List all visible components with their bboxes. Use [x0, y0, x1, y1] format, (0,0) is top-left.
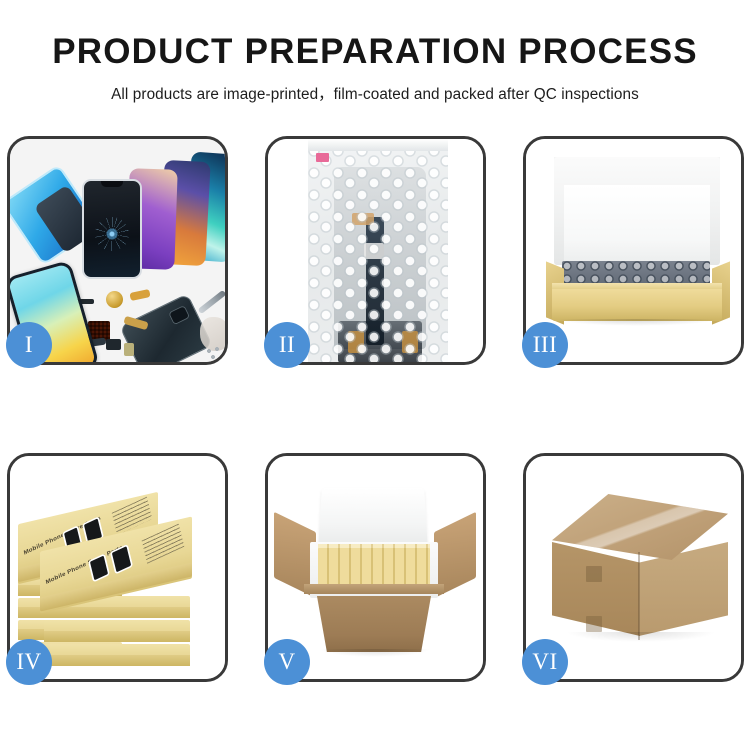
speaker-coil-icon: [106, 291, 123, 308]
loudspeaker-icon: [106, 339, 121, 350]
step-card-4[interactable]: Mobile Phone Spare Parts Mobile Phone Sp…: [7, 453, 228, 682]
drop-shadow: [566, 632, 716, 642]
foam-lid-icon: [318, 488, 428, 550]
phone-notch-icon: [101, 181, 123, 187]
step-badge-3: III: [522, 322, 568, 368]
screen-crack-graphic: [95, 217, 129, 251]
retail-box-icon: [44, 620, 190, 642]
black-glass-screen-icon: [82, 179, 142, 279]
flex-cable-icon: [129, 289, 150, 301]
box-spec-lines: [142, 524, 185, 564]
hand-icon: [200, 317, 225, 351]
pink-label-icon: [316, 153, 329, 162]
step-badge-6: VI: [522, 639, 568, 685]
screwdriver-icon: [198, 290, 225, 314]
step-card-6[interactable]: VI: [523, 453, 744, 682]
bubble-bag-icon: [308, 145, 448, 362]
page-subtitle: All products are image-printed，film-coat…: [0, 82, 750, 104]
carton-body-icon: [312, 596, 436, 652]
phone-print-icon: [90, 556, 108, 581]
carton-handle-cutout-icon: [586, 566, 602, 582]
bubble-texture: [308, 145, 448, 362]
page-title: PRODUCT PREPARATION PROCESS: [0, 34, 750, 69]
retail-box-icon: [44, 644, 190, 666]
foam-sheet-icon: [564, 185, 710, 263]
screws-icon: [206, 347, 224, 359]
drop-shadow: [320, 649, 430, 657]
step-card-5[interactable]: V: [265, 453, 486, 682]
page-header: PRODUCT PREPARATION PROCESS All products…: [0, 0, 750, 104]
carton-edge-seam: [638, 552, 640, 640]
step-badge-2: II: [264, 322, 310, 368]
power-button-icon: [124, 343, 134, 356]
drop-shadow: [556, 319, 718, 326]
step-card-2[interactable]: II: [265, 136, 486, 365]
bag-seal-icon: [308, 139, 448, 151]
step-card-1[interactable]: I: [7, 136, 228, 365]
process-steps-grid: I II: [7, 136, 743, 682]
step-badge-1: I: [6, 322, 52, 368]
step-card-3[interactable]: III: [523, 136, 744, 365]
kraft-tray-icon: [552, 289, 722, 321]
carton-rim-icon: [304, 584, 444, 594]
step-badge-5: V: [264, 639, 310, 685]
carton-handle-cutout-icon: [586, 616, 602, 632]
step-badge-4: IV: [6, 639, 52, 685]
